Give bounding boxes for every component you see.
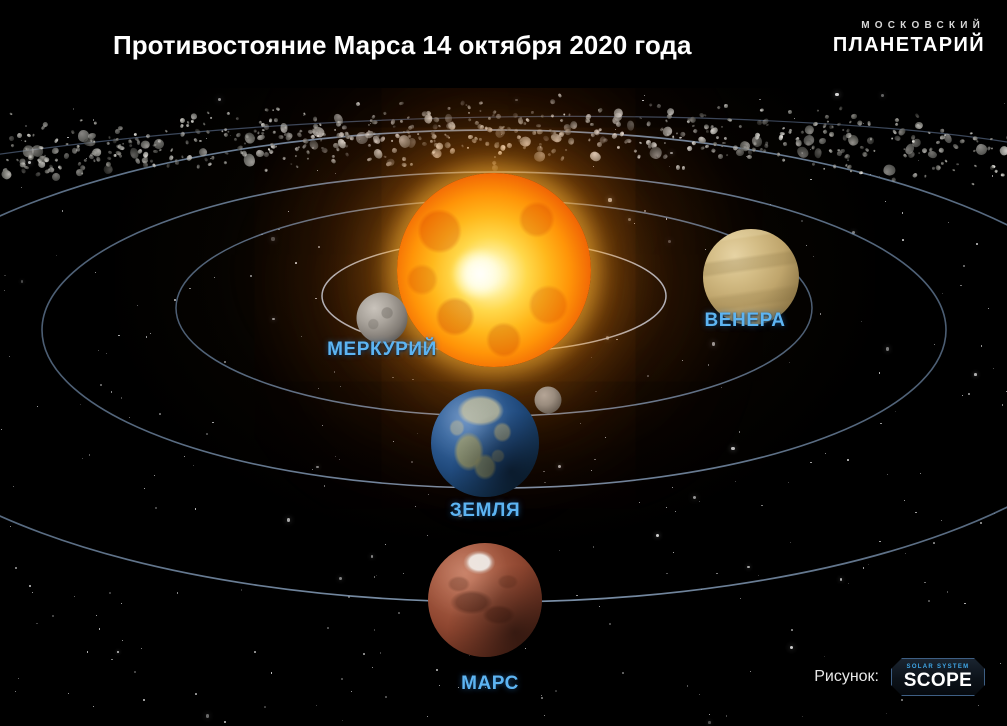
- asteroid: [648, 102, 653, 107]
- asteroid: [626, 139, 632, 143]
- asteroid: [128, 139, 131, 143]
- asteroid: [843, 135, 847, 141]
- asteroid: [691, 140, 697, 146]
- asteroid: [256, 134, 265, 141]
- asteroid: [778, 134, 784, 140]
- asteroid: [153, 137, 166, 150]
- earth-texture: [431, 389, 539, 497]
- asteroid: [914, 112, 920, 118]
- asteroid: [170, 148, 174, 152]
- asteroid: [417, 132, 420, 135]
- asteroid: [313, 116, 318, 121]
- asteroid: [568, 113, 570, 116]
- asteroid: [263, 151, 269, 157]
- sun-core-glow: [453, 250, 507, 298]
- asteroid: [471, 138, 477, 144]
- asteroid: [118, 126, 123, 130]
- asteroid: [344, 141, 346, 143]
- asteroid: [206, 129, 211, 134]
- asteroid: [747, 155, 752, 159]
- header-bar: Противостояние Марса 14 октября 2020 год…: [0, 0, 1007, 88]
- asteroid: [713, 142, 718, 147]
- asteroid: [815, 148, 823, 159]
- asteroid: [233, 137, 237, 141]
- asteroid: [585, 113, 592, 120]
- solar-system-scene: МЕРКУРИЙ ВЕНЕРА ЗЕМЛЯ МАРС Противостояни…: [0, 0, 1007, 726]
- asteroid: [302, 144, 307, 150]
- asteroid: [717, 106, 721, 110]
- asteroid: [971, 183, 974, 186]
- asteroid: [39, 145, 44, 149]
- asteroid: [682, 166, 686, 170]
- asteroid: [269, 118, 273, 122]
- asteroid: [952, 143, 959, 149]
- planet-label-mercury: МЕРКУРИЙ: [327, 339, 437, 361]
- asteroid: [907, 151, 916, 160]
- asteroid: [994, 170, 997, 174]
- asteroid: [227, 131, 229, 133]
- asteroid: [296, 166, 299, 169]
- asteroid: [51, 171, 62, 182]
- asteroid: [536, 124, 541, 127]
- solar-system-scope-badge[interactable]: SOLAR SYSTEM SCOPE: [891, 658, 985, 696]
- asteroid: [542, 135, 550, 142]
- asteroid: [627, 120, 634, 130]
- asteroid: [410, 125, 414, 130]
- asteroid: [761, 150, 763, 152]
- asteroid: [921, 147, 928, 154]
- asteroid: [856, 121, 862, 127]
- page-title: Противостояние Марса 14 октября 2020 год…: [113, 30, 691, 61]
- asteroid: [972, 149, 975, 152]
- asteroid: [838, 106, 842, 110]
- asteroid: [467, 134, 473, 138]
- asteroid: [550, 113, 554, 117]
- asteroid: [970, 132, 973, 135]
- asteroid: [268, 149, 274, 155]
- asteroid: [410, 163, 414, 167]
- asteroid: [705, 144, 709, 148]
- asteroid: [974, 164, 978, 167]
- asteroid: [295, 155, 298, 158]
- asteroid: [390, 119, 396, 126]
- asteroid: [936, 140, 940, 144]
- asteroid: [927, 150, 937, 159]
- planet-label-earth: ЗЕМЛЯ: [450, 500, 520, 522]
- asteroid: [959, 138, 965, 143]
- asteroid: [467, 118, 471, 122]
- asteroid: [998, 145, 1007, 158]
- asteroid: [166, 163, 170, 168]
- asteroid: [210, 117, 212, 119]
- asteroid: [368, 123, 371, 125]
- asteroid: [588, 150, 602, 163]
- asteroid: [66, 143, 69, 145]
- asteroid: [174, 158, 178, 162]
- asteroid: [332, 155, 335, 158]
- asteroid: [47, 167, 50, 170]
- asteroid: [493, 156, 496, 159]
- asteroid: [107, 157, 112, 161]
- asteroid: [551, 148, 557, 154]
- asteroid: [383, 155, 386, 157]
- planet-mercury: [357, 293, 408, 344]
- asteroid: [321, 147, 328, 153]
- asteroid: [227, 112, 231, 116]
- image-credit: Рисунок: SOLAR SYSTEM SCOPE: [814, 658, 985, 696]
- asteroid: [331, 158, 337, 164]
- asteroid: [209, 158, 211, 160]
- asteroid: [107, 142, 110, 146]
- asteroid: [401, 162, 407, 167]
- asteroid: [849, 120, 853, 124]
- asteroid: [940, 129, 944, 134]
- asteroid: [894, 118, 899, 123]
- asteroid: [939, 148, 945, 154]
- asteroid: [383, 111, 387, 115]
- asteroid: [257, 131, 259, 134]
- asteroid: [107, 150, 112, 155]
- asteroid: [24, 140, 27, 142]
- asteroid: [924, 174, 926, 177]
- asteroid: [478, 138, 481, 141]
- asteroid: [525, 117, 530, 122]
- asteroid: [831, 125, 834, 128]
- planet-earth: [431, 389, 539, 497]
- asteroid: [506, 126, 511, 131]
- asteroid: [837, 122, 842, 126]
- asteroid: [615, 121, 621, 127]
- asteroid: [599, 135, 607, 144]
- asteroid: [720, 145, 723, 148]
- asteroid: [610, 132, 618, 140]
- asteroid: [344, 131, 349, 136]
- asteroid: [356, 101, 361, 106]
- asteroid: [199, 140, 202, 142]
- asteroid: [278, 135, 283, 140]
- asteroid: [203, 123, 206, 126]
- asteroid: [617, 146, 620, 149]
- asteroid: [540, 115, 543, 118]
- asteroid: [935, 164, 942, 170]
- asteroid: [619, 131, 625, 138]
- asteroid: [724, 104, 728, 107]
- asteroid: [560, 118, 564, 122]
- asteroid: [461, 144, 464, 148]
- asteroid: [223, 132, 228, 137]
- asteroid: [721, 125, 724, 128]
- asteroid: [495, 113, 502, 120]
- asteroid: [944, 160, 947, 163]
- asteroid: [895, 122, 899, 127]
- asteroid: [307, 157, 310, 160]
- asteroid: [537, 146, 543, 152]
- asteroid: [990, 166, 994, 170]
- asteroid: [703, 123, 710, 130]
- asteroid: [646, 121, 651, 127]
- logo-line-planetarium: ПЛАНЕТАРИЙ: [833, 34, 985, 57]
- asteroid: [185, 141, 188, 145]
- asteroid: [568, 138, 575, 145]
- planet-mars: [428, 543, 542, 657]
- asteroid: [705, 130, 709, 134]
- asteroid: [932, 167, 935, 170]
- asteroid: [424, 114, 433, 124]
- asteroid: [759, 107, 763, 111]
- asteroid: [787, 109, 792, 114]
- asteroid: [433, 139, 436, 142]
- asteroid: [817, 109, 819, 111]
- asteroid: [308, 139, 320, 152]
- asteroid: [306, 149, 310, 154]
- asteroid: [718, 154, 724, 159]
- asteroid: [57, 165, 60, 168]
- asteroid: [550, 130, 556, 135]
- asteroid: [550, 99, 556, 105]
- asteroid: [40, 125, 45, 131]
- asteroid: [398, 102, 403, 106]
- asteroid: [284, 125, 287, 129]
- asteroid: [372, 135, 382, 146]
- asteroid: [32, 133, 35, 136]
- asteroid: [194, 138, 199, 143]
- asteroid: [788, 130, 792, 134]
- asteroid: [283, 157, 286, 161]
- asteroid: [224, 161, 227, 164]
- asteroid: [400, 120, 403, 123]
- asteroid: [143, 163, 148, 169]
- asteroid: [26, 133, 31, 137]
- asteroid: [273, 117, 277, 121]
- asteroid: [485, 142, 489, 146]
- asteroid: [273, 131, 276, 134]
- asteroid: [182, 155, 185, 158]
- asteroid: [499, 144, 505, 150]
- asteroid: [557, 93, 561, 98]
- asteroid: [828, 131, 833, 136]
- asteroid: [833, 165, 836, 169]
- asteroid: [6, 159, 9, 162]
- asteroid: [563, 112, 566, 115]
- asteroid: [858, 171, 862, 175]
- asteroid: [941, 162, 944, 165]
- asteroid: [842, 129, 844, 131]
- asteroid: [487, 117, 490, 121]
- asteroid: [391, 148, 397, 154]
- asteroid: [254, 129, 257, 132]
- asteroid: [186, 154, 193, 161]
- asteroid: [320, 138, 322, 141]
- asteroid: [662, 154, 668, 160]
- asteroid: [724, 137, 728, 141]
- asteroid: [10, 143, 14, 147]
- asteroid: [179, 117, 185, 123]
- asteroid: [565, 149, 568, 151]
- asteroid: [704, 114, 707, 117]
- mercury-texture: [357, 293, 408, 344]
- asteroid: [664, 142, 667, 145]
- asteroid: [235, 116, 239, 120]
- asteroid: [63, 152, 70, 159]
- asteroid: [467, 146, 469, 149]
- asteroid: [275, 145, 278, 148]
- asteroid: [492, 164, 498, 170]
- asteroid: [1, 169, 14, 182]
- asteroid: [890, 137, 893, 139]
- asteroid: [588, 139, 591, 142]
- asteroid: [153, 150, 158, 154]
- asteroid: [513, 128, 518, 133]
- asteroid: [818, 137, 827, 144]
- asteroid: [80, 118, 83, 121]
- asteroid: [726, 117, 732, 122]
- mars-texture: [428, 543, 542, 657]
- asteroid: [372, 147, 384, 160]
- asteroid: [479, 102, 483, 105]
- asteroid: [333, 128, 336, 131]
- asteroid: [850, 114, 856, 120]
- asteroid: [782, 141, 787, 146]
- asteroid: [570, 121, 577, 129]
- asteroid: [918, 152, 920, 154]
- asteroid: [168, 154, 173, 160]
- asteroid: [697, 135, 707, 144]
- asteroid: [672, 135, 674, 138]
- asteroid: [692, 125, 695, 128]
- asteroid: [656, 104, 661, 109]
- asteroid: [150, 159, 153, 162]
- credit-label: Рисунок:: [814, 668, 879, 686]
- asteroid: [112, 138, 116, 144]
- asteroid: [449, 148, 456, 155]
- asteroid: [341, 125, 346, 130]
- asteroid: [639, 117, 641, 120]
- asteroid: [822, 123, 827, 129]
- asteroid: [180, 124, 184, 128]
- asteroid: [538, 142, 541, 145]
- asteroid: [71, 130, 75, 134]
- asteroid: [186, 124, 190, 128]
- asteroid: [391, 139, 394, 142]
- asteroid: [828, 148, 833, 153]
- asteroid: [76, 148, 80, 152]
- asteroid: [972, 136, 977, 140]
- asteroid: [506, 142, 512, 148]
- asteroid: [680, 131, 686, 138]
- asteroid: [96, 157, 101, 163]
- asteroid: [667, 108, 675, 116]
- asteroid: [84, 159, 88, 163]
- asteroid: [303, 112, 306, 115]
- asteroid: [467, 105, 471, 110]
- asteroid: [367, 143, 371, 147]
- asteroid: [433, 116, 440, 123]
- asteroid: [93, 159, 95, 162]
- asteroid: [204, 157, 209, 162]
- asteroid: [134, 137, 138, 141]
- asteroid: [19, 162, 25, 168]
- asteroid: [827, 120, 830, 123]
- asteroid: [109, 135, 112, 139]
- asteroid: [1000, 173, 1004, 176]
- asteroid: [447, 107, 450, 110]
- asteroid: [276, 107, 281, 111]
- asteroid: [93, 122, 96, 125]
- asteroid: [152, 162, 157, 167]
- asteroid: [664, 119, 667, 123]
- asteroid: [590, 123, 594, 126]
- asteroid: [850, 169, 853, 172]
- asteroid: [468, 111, 471, 114]
- asteroid: [736, 148, 745, 156]
- asteroid: [715, 136, 719, 140]
- asteroid: [197, 146, 208, 157]
- asteroid: [191, 120, 195, 123]
- asteroid: [206, 111, 209, 114]
- scope-badge-title: SCOPE: [904, 671, 973, 690]
- asteroid: [418, 136, 422, 141]
- asteroid: [196, 164, 199, 169]
- asteroid: [739, 125, 743, 129]
- asteroid: [265, 168, 268, 171]
- asteroid: [430, 130, 435, 135]
- asteroid: [54, 138, 59, 144]
- asteroid: [675, 131, 678, 134]
- asteroid: [179, 131, 185, 137]
- asteroid: [839, 148, 845, 154]
- asteroid: [638, 142, 642, 145]
- asteroid: [366, 157, 371, 162]
- asteroid: [165, 129, 169, 132]
- asteroid: [497, 150, 503, 156]
- asteroid: [119, 146, 125, 151]
- asteroid: [289, 162, 292, 165]
- asteroid: [387, 159, 395, 167]
- asteroid: [795, 139, 801, 146]
- asteroid: [823, 168, 825, 170]
- asteroid: [991, 147, 994, 150]
- planetarium-logo: МОСКОВСКИЙ ПЛАНЕТАРИЙ: [833, 20, 985, 57]
- asteroid: [35, 171, 41, 177]
- asteroid: [892, 129, 898, 135]
- asteroid: [781, 158, 785, 162]
- asteroid: [927, 131, 930, 134]
- asteroid: [55, 158, 59, 162]
- asteroid: [534, 151, 545, 161]
- asteroid: [951, 168, 955, 171]
- asteroid: [445, 135, 448, 138]
- asteroid: [531, 131, 536, 135]
- asteroid: [141, 141, 150, 149]
- asteroid: [812, 144, 816, 149]
- asteroid: [186, 121, 189, 124]
- asteroid: [560, 156, 565, 162]
- asteroid: [873, 150, 876, 152]
- asteroid: [812, 162, 815, 165]
- asteroid: [776, 152, 780, 157]
- asteroid: [636, 154, 640, 158]
- asteroid: [686, 145, 693, 152]
- asteroid: [633, 149, 637, 152]
- asteroid: [986, 146, 990, 151]
- asteroid: [891, 177, 896, 182]
- asteroid: [547, 153, 552, 158]
- asteroid: [31, 154, 35, 158]
- asteroid: [133, 132, 137, 136]
- asteroid: [235, 132, 242, 138]
- asteroid: [438, 124, 441, 127]
- asteroid: [10, 113, 13, 116]
